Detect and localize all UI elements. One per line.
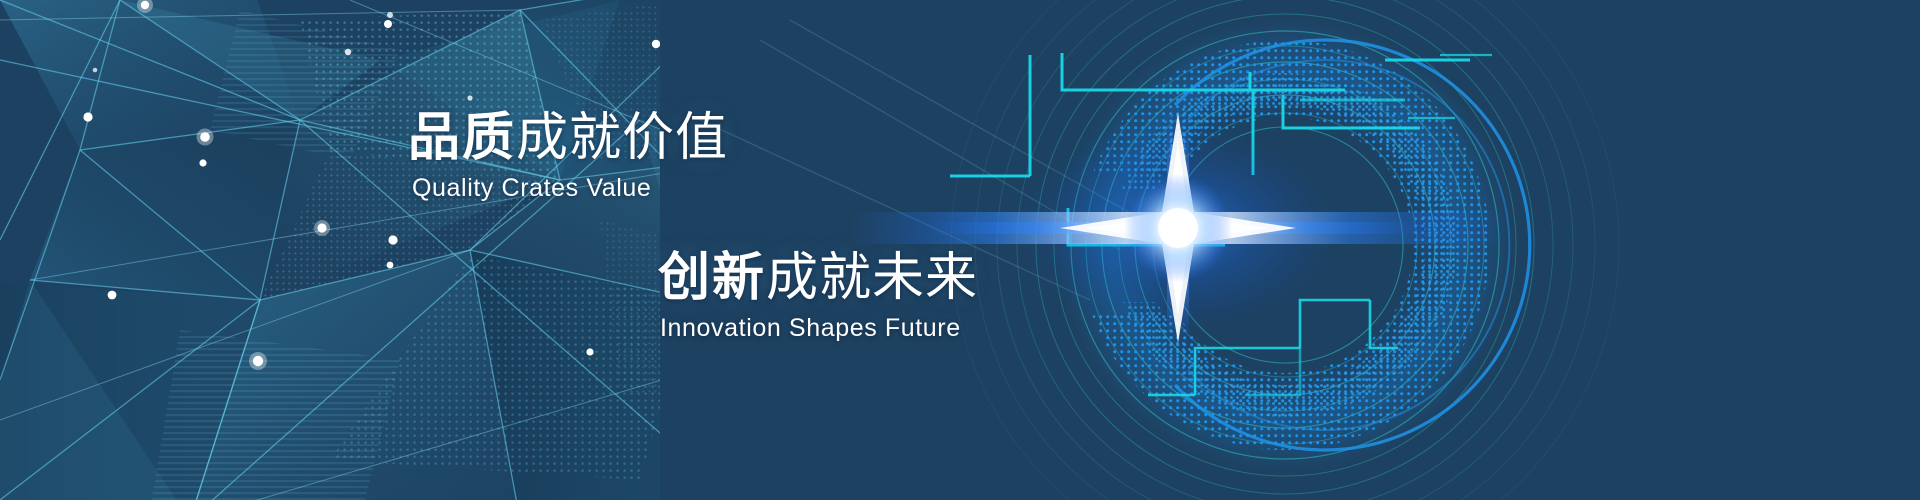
hero-banner: 品质成就价值 Quality Crates Value 创新成就未来 Innov… xyxy=(0,0,1920,500)
slogan-innovation-headline-strong: 创新 xyxy=(658,249,766,307)
slogan-innovation-subline: Innovation Shapes Future xyxy=(660,316,978,341)
slogan-quality-subline: Quality Crates Value xyxy=(412,176,728,201)
slogan-quality: 品质成就价值 Quality Crates Value xyxy=(408,112,728,201)
slogan-quality-headline-strong: 品质 xyxy=(408,109,516,167)
slogan-quality-headline: 品质成就价值 xyxy=(408,112,728,164)
slogan-innovation-headline-light: 成就未来 xyxy=(766,249,978,307)
slogan-innovation: 创新成就未来 Innovation Shapes Future xyxy=(658,252,978,341)
slogan-quality-headline-light: 成就价值 xyxy=(516,109,728,167)
slogan-innovation-headline: 创新成就未来 xyxy=(658,252,978,304)
